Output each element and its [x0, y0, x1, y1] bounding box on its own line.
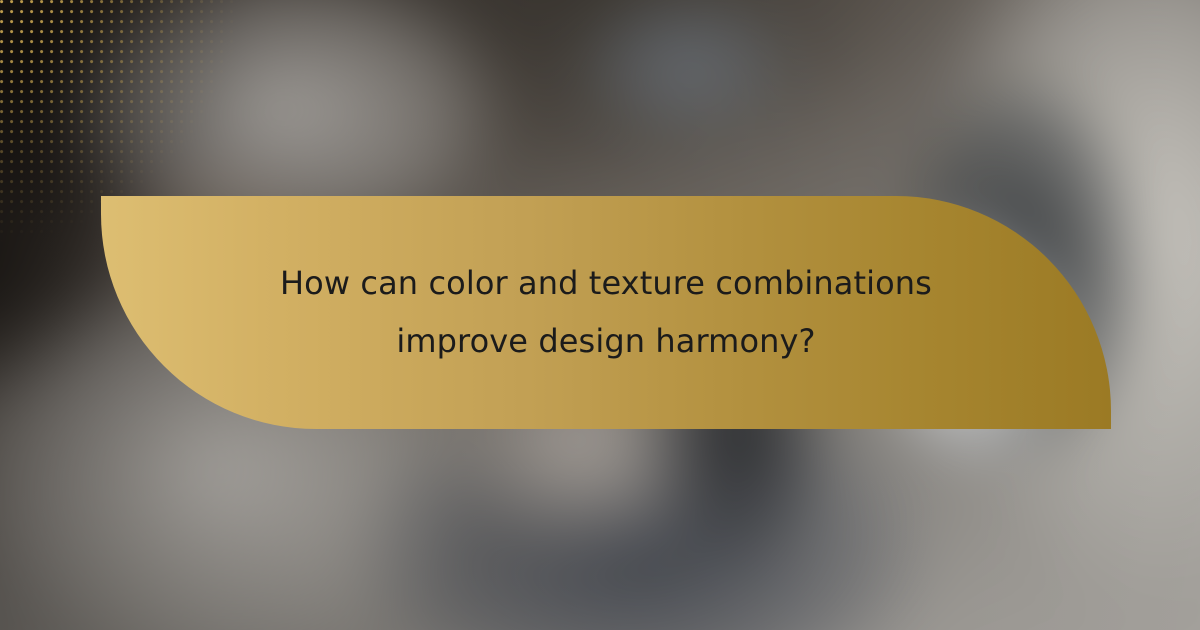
- question-text: How can color and texture combinations i…: [216, 254, 996, 372]
- question-card: How can color and texture combinations i…: [101, 196, 1111, 429]
- question-line-1: How can color and texture combinations: [216, 254, 996, 312]
- share-card-canvas: How can color and texture combinations i…: [0, 0, 1200, 630]
- question-line-2: improve design harmony?: [216, 312, 996, 370]
